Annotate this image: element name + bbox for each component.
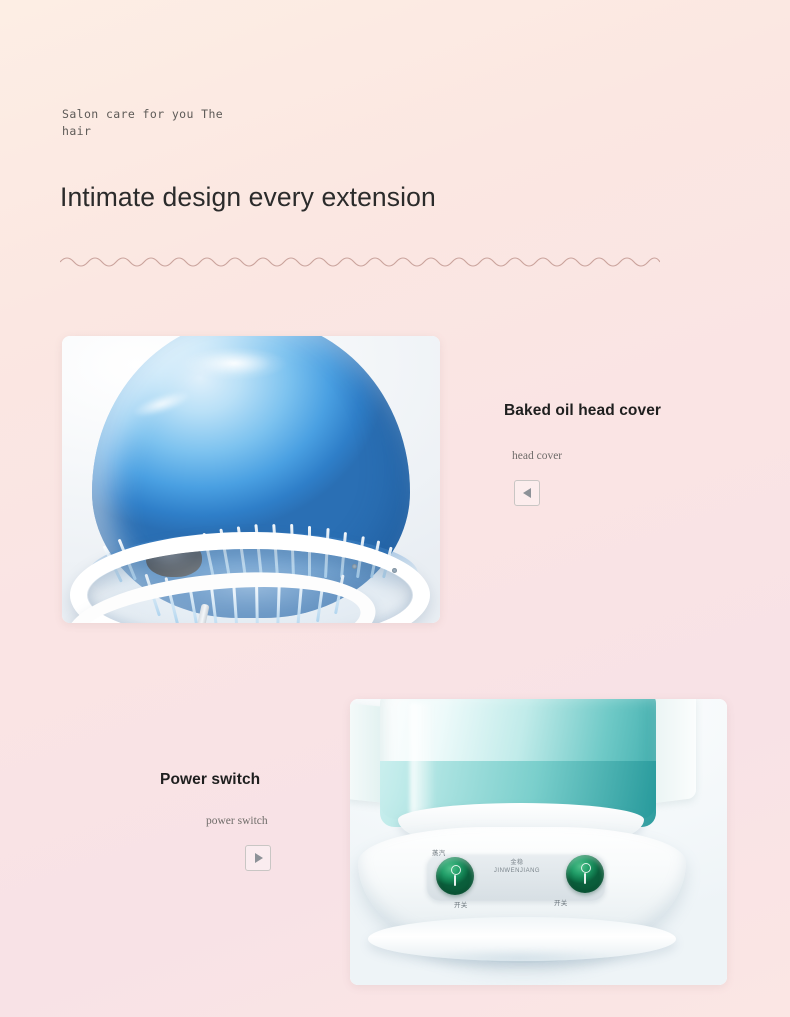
steam-knob[interactable] <box>436 857 474 895</box>
brand-mark: 金稳 JINWENJIANG <box>486 859 548 875</box>
ring-screw <box>352 564 357 569</box>
triangle-right-icon[interactable] <box>245 845 271 871</box>
base-reflection <box>390 945 650 971</box>
brand-line-2: JINWENJIANG <box>486 867 548 875</box>
brand-line-1: 金稳 <box>486 859 548 867</box>
label-switch-right: 开关 <box>554 897 568 907</box>
power-knob[interactable] <box>566 855 604 893</box>
ring-screw <box>392 568 397 573</box>
label-steam: 蒸汽 <box>432 847 446 857</box>
baked-oil-head-cover-photo <box>62 336 440 623</box>
label-switch-left: 开关 <box>454 899 468 909</box>
wavy-divider <box>60 248 660 272</box>
dome-highlight-primary <box>180 348 288 382</box>
page-root: Salon care for you The hair Intimate des… <box>0 0 790 1017</box>
block-title-head-cover: Baked oil head cover <box>504 402 661 420</box>
block-subtitle-head-cover: head cover <box>512 450 562 462</box>
triangle-left-icon[interactable] <box>514 480 540 506</box>
block-subtitle-power-switch: power switch <box>206 815 268 827</box>
tank-highlight <box>410 703 436 821</box>
block-title-power-switch: Power switch <box>160 771 260 789</box>
eyebrow-text: Salon care for you The hair <box>62 106 242 140</box>
page-title: Intimate design every extension <box>60 182 436 213</box>
power-switch-photo: 金稳 JINWENJIANG 蒸汽 开关 开关 <box>350 699 727 985</box>
